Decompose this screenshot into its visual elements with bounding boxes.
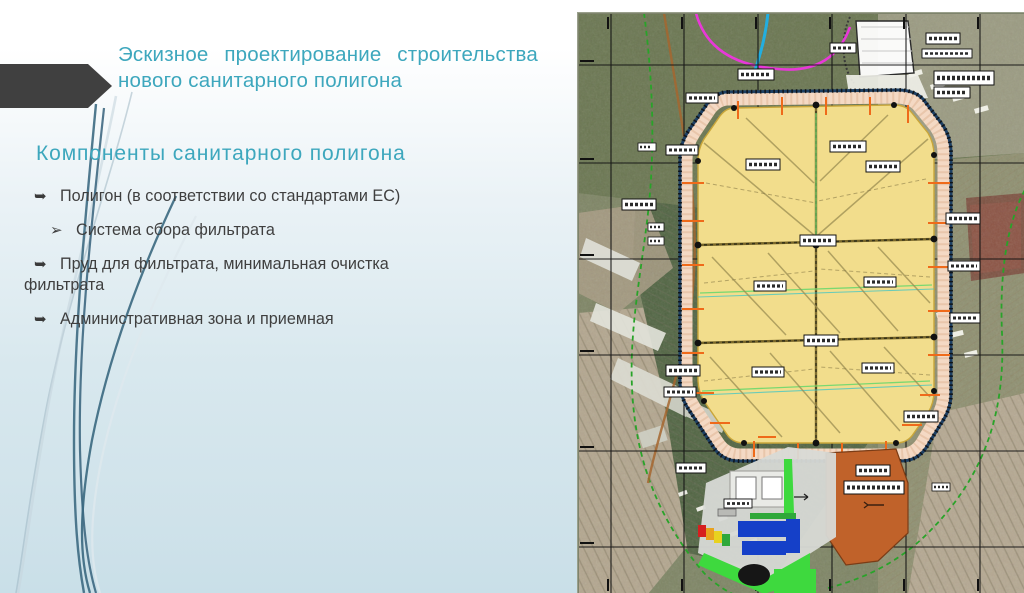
landfill-site-plan-image bbox=[577, 12, 1024, 593]
title-banner-arrow bbox=[0, 64, 112, 108]
list-item[interactable]: ➢ Система сбора фильтрата bbox=[24, 220, 544, 241]
list-item-label-tail: фильтрата bbox=[24, 275, 544, 296]
page-title: Эскизное проектирование строительства но… bbox=[118, 42, 538, 94]
arrow-bullet-icon: ➢ bbox=[50, 221, 72, 241]
list-item-label-main: Пруд для фильтрата, минимальная очистка bbox=[60, 255, 389, 273]
list-item[interactable]: ➥ Пруд для фильтрата, минимальная очистк… bbox=[24, 254, 544, 296]
flag-bullet-icon: ➥ bbox=[34, 255, 56, 275]
list-item-label: Пруд для фильтрата, минимальная очисткаф… bbox=[60, 254, 544, 296]
list-item-label: Полигон (в соответствии со стандартами Е… bbox=[60, 186, 544, 207]
list-item-label: Система сбора фильтрата bbox=[76, 220, 544, 241]
list-item[interactable]: ➥ Полигон (в соответствии со стандартами… bbox=[24, 186, 544, 207]
section-heading: Компоненты санитарного полигона bbox=[36, 142, 536, 166]
slide-canvas: Эскизное проектирование строительства но… bbox=[0, 0, 1024, 593]
list-item-label: Административная зона и приемная bbox=[60, 309, 544, 330]
flag-bullet-icon: ➥ bbox=[34, 187, 56, 207]
components-list: ➥ Полигон (в соответствии со стандартами… bbox=[24, 186, 544, 343]
list-item[interactable]: ➥ Административная зона и приемная bbox=[24, 309, 544, 330]
flag-bullet-icon: ➥ bbox=[34, 310, 56, 330]
page-title-text: Эскизное проектирование строительства но… bbox=[118, 43, 538, 92]
